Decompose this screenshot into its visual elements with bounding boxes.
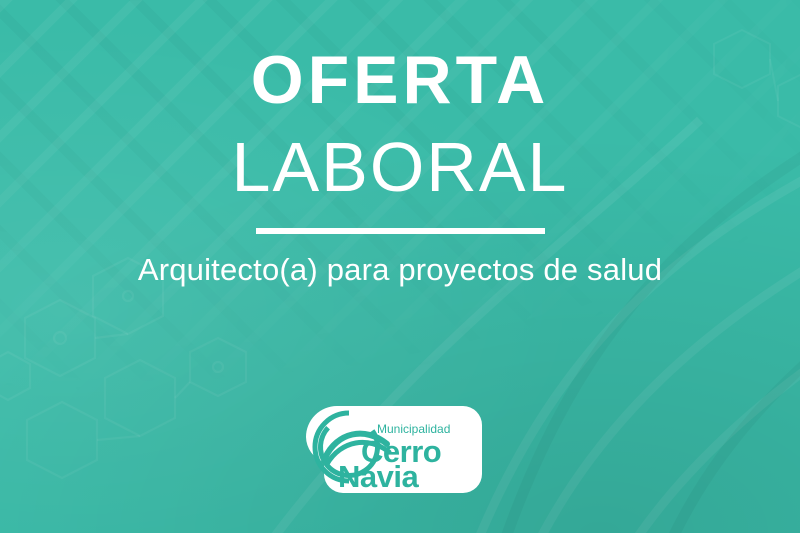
logo-artwork: Municipalidad Cerro Navia: [303, 404, 484, 494]
heading-block: OFERTA LABORAL: [0, 46, 800, 234]
divider-rule: [256, 228, 545, 234]
job-offer-poster: OFERTA LABORAL Arquitecto(a) para proyec…: [0, 0, 800, 533]
page-title-primary: OFERTA: [0, 46, 800, 114]
logo-text-navia: Navia: [338, 459, 419, 494]
job-position-subtitle: Arquitecto(a) para proyectos de salud: [0, 252, 800, 288]
page-title-secondary: LABORAL: [0, 132, 800, 202]
municipality-logo: Municipalidad Cerro Navia: [303, 404, 484, 494]
